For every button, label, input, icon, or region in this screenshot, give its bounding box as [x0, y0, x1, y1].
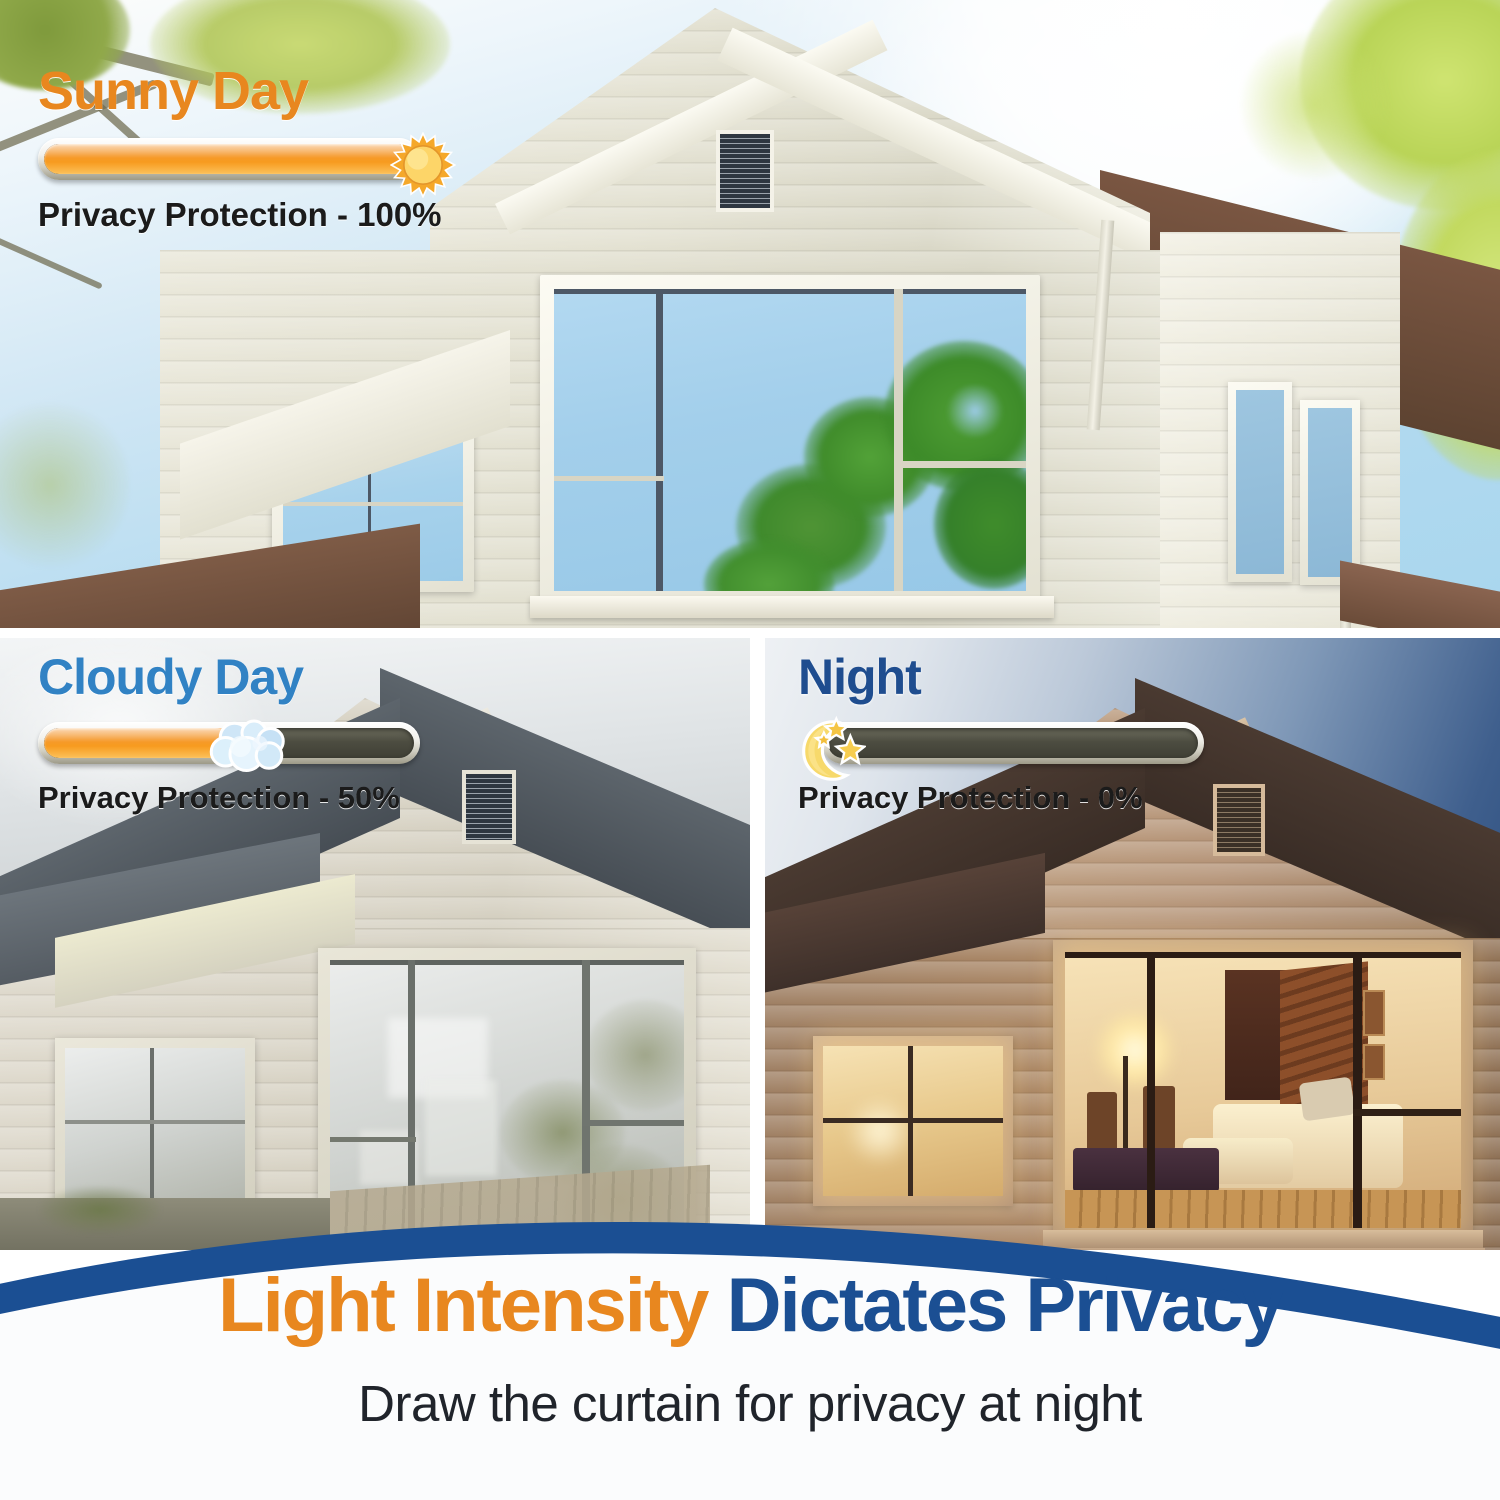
- interior-chair: [1087, 1092, 1117, 1152]
- gable-vent: [716, 130, 774, 212]
- infographic-root: Sunny Day Privacy Protecti: [0, 0, 1500, 1500]
- lamp-glow: [1095, 1010, 1175, 1090]
- banner-text-block: Light Intensity Dictates Privacy Draw th…: [0, 1268, 1500, 1433]
- cloudy-title: Cloudy Day: [38, 652, 508, 702]
- night-caption: Privacy Protection - 0%: [798, 780, 1268, 816]
- lamp-post: [1123, 1056, 1128, 1152]
- cloudy-progress-fill: [44, 728, 229, 758]
- moon-stars-icon: [788, 714, 866, 784]
- cloudy-progress-row: [38, 714, 508, 772]
- headline-blue: Dictates Privacy: [727, 1263, 1282, 1348]
- window-picture-mirrored: [540, 275, 1040, 605]
- deck-bench: [1073, 1148, 1219, 1192]
- window-right-a: [1228, 382, 1292, 582]
- interior-ghost: [425, 1080, 497, 1176]
- sunny-progress-row: [38, 130, 558, 188]
- mirrored-glass: [554, 289, 1026, 591]
- banner-subline: Draw the curtain for privacy at night: [0, 1374, 1500, 1433]
- card-cloudy-day: Cloudy Day: [38, 652, 508, 816]
- wall-art: [1363, 990, 1385, 1036]
- card-sunny-day: Sunny Day Privacy Protecti: [38, 64, 558, 234]
- cloudy-caption: Privacy Protection - 50%: [38, 780, 508, 816]
- night-progress-bar[interactable]: [822, 722, 1204, 764]
- bottom-banner: Light Intensity Dictates Privacy Draw th…: [0, 1190, 1500, 1500]
- window-left: [55, 1038, 255, 1208]
- lit-glass-left: [823, 1046, 1003, 1196]
- headline-orange: Light Intensity: [218, 1263, 707, 1348]
- banner-headline: Light Intensity Dictates Privacy: [0, 1268, 1500, 1344]
- reflected-sky-gap: [944, 385, 1006, 437]
- night-progress-track: [828, 728, 1198, 758]
- tree-foliage: [1240, 30, 1390, 180]
- window-right-b: [1300, 400, 1360, 585]
- card-night: Night Privacy Protection -: [798, 652, 1268, 816]
- sunny-progress-fill: [44, 144, 414, 174]
- cloud-icon: [206, 717, 296, 779]
- sunny-progress-bar[interactable]: [38, 138, 420, 180]
- wall-art: [1363, 1044, 1385, 1080]
- sunny-title: Sunny Day: [38, 64, 558, 118]
- sun-icon: [390, 132, 456, 198]
- sunny-caption: Privacy Protection - 100%: [38, 196, 558, 234]
- interior-cushion: [1299, 1077, 1356, 1122]
- window-left-lit: [813, 1036, 1013, 1206]
- night-title: Night: [798, 652, 1268, 702]
- sunny-progress-track: [44, 144, 414, 174]
- lamp-glow: [845, 1096, 915, 1166]
- lit-glass-interior: [1065, 952, 1461, 1228]
- night-progress-row: [798, 714, 1268, 772]
- window-sill: [530, 596, 1054, 618]
